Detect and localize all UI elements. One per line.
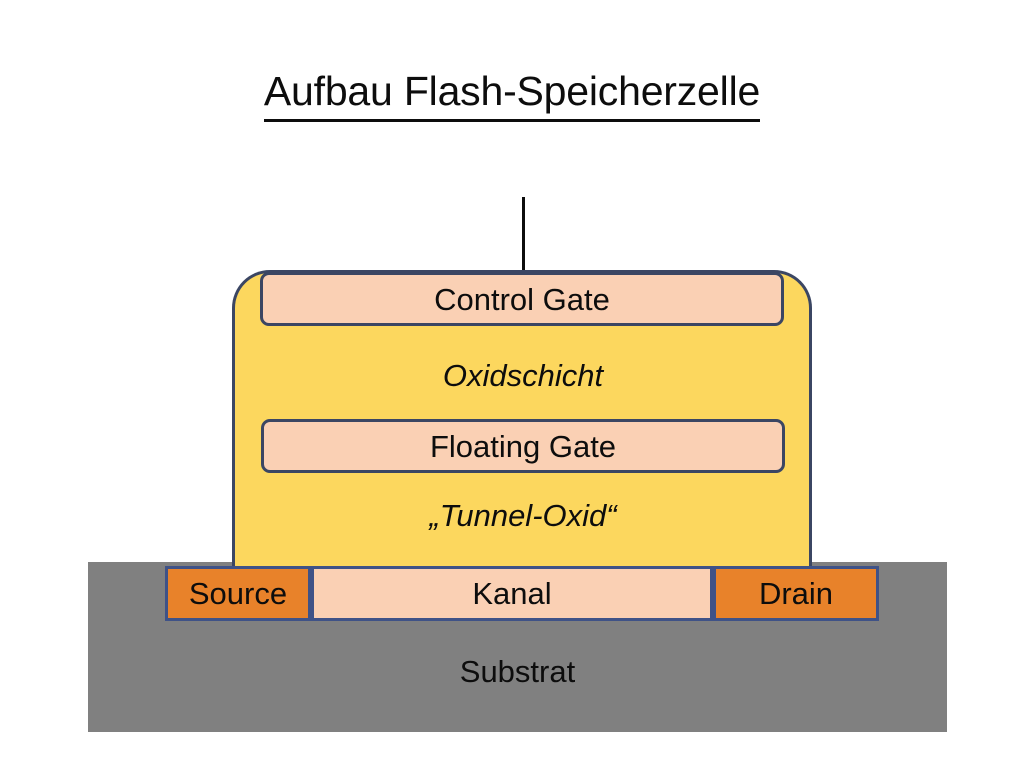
floating-gate-label: Floating Gate	[430, 431, 616, 462]
tunnel-oxide-label: „Tunnel-Oxid“	[261, 500, 785, 531]
drain-region-box: Drain	[713, 566, 879, 621]
control-gate-box: Control Gate	[260, 272, 784, 326]
substrate-label: Substrat	[88, 654, 947, 690]
page-title-text: Aufbau Flash-Speicherzelle	[264, 68, 760, 122]
drain-label: Drain	[759, 578, 833, 609]
channel-label: Kanal	[472, 578, 551, 609]
channel-region-box: Kanal	[311, 566, 713, 621]
source-label: Source	[189, 578, 287, 609]
diagram-canvas: Aufbau Flash-Speicherzelle Substrat Cont…	[0, 0, 1024, 768]
oxide-layer-label: Oxidschicht	[261, 360, 785, 391]
source-region-box: Source	[165, 566, 311, 621]
floating-gate-box: Floating Gate	[261, 419, 785, 473]
control-gate-label: Control Gate	[434, 284, 610, 315]
page-title: Aufbau Flash-Speicherzelle	[0, 68, 1024, 122]
gate-contact-line-icon	[522, 197, 525, 274]
